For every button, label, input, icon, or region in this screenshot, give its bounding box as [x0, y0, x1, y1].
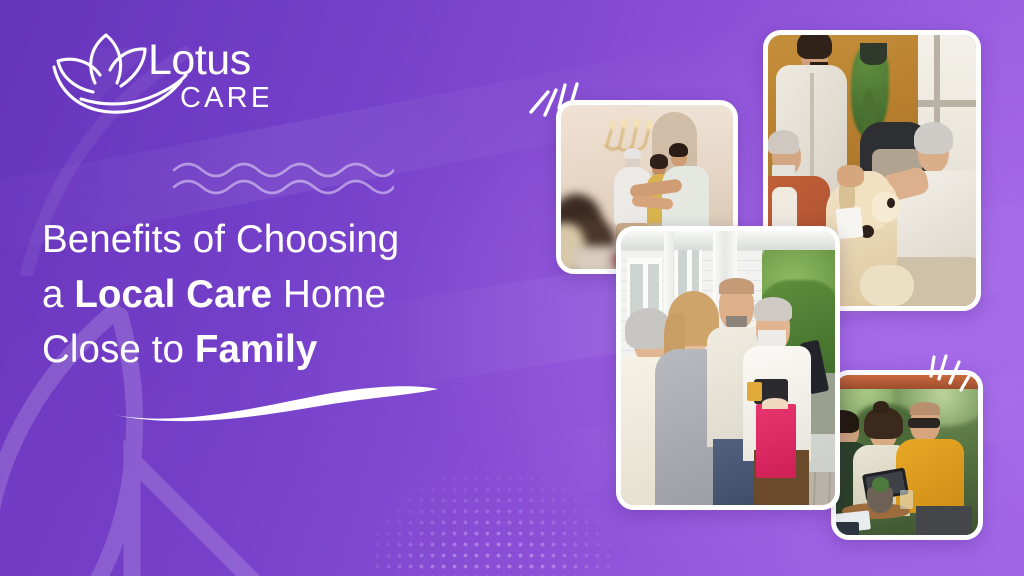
- photo-garden-chat[interactable]: [831, 370, 983, 540]
- photo-scene: [836, 375, 978, 535]
- photo-scene: [621, 231, 835, 505]
- photo-collage: [0, 0, 1024, 576]
- photo-porch-selfie[interactable]: [616, 226, 840, 510]
- hero-banner: Lotus CARE Benefits of Choosing a Local …: [0, 0, 1024, 576]
